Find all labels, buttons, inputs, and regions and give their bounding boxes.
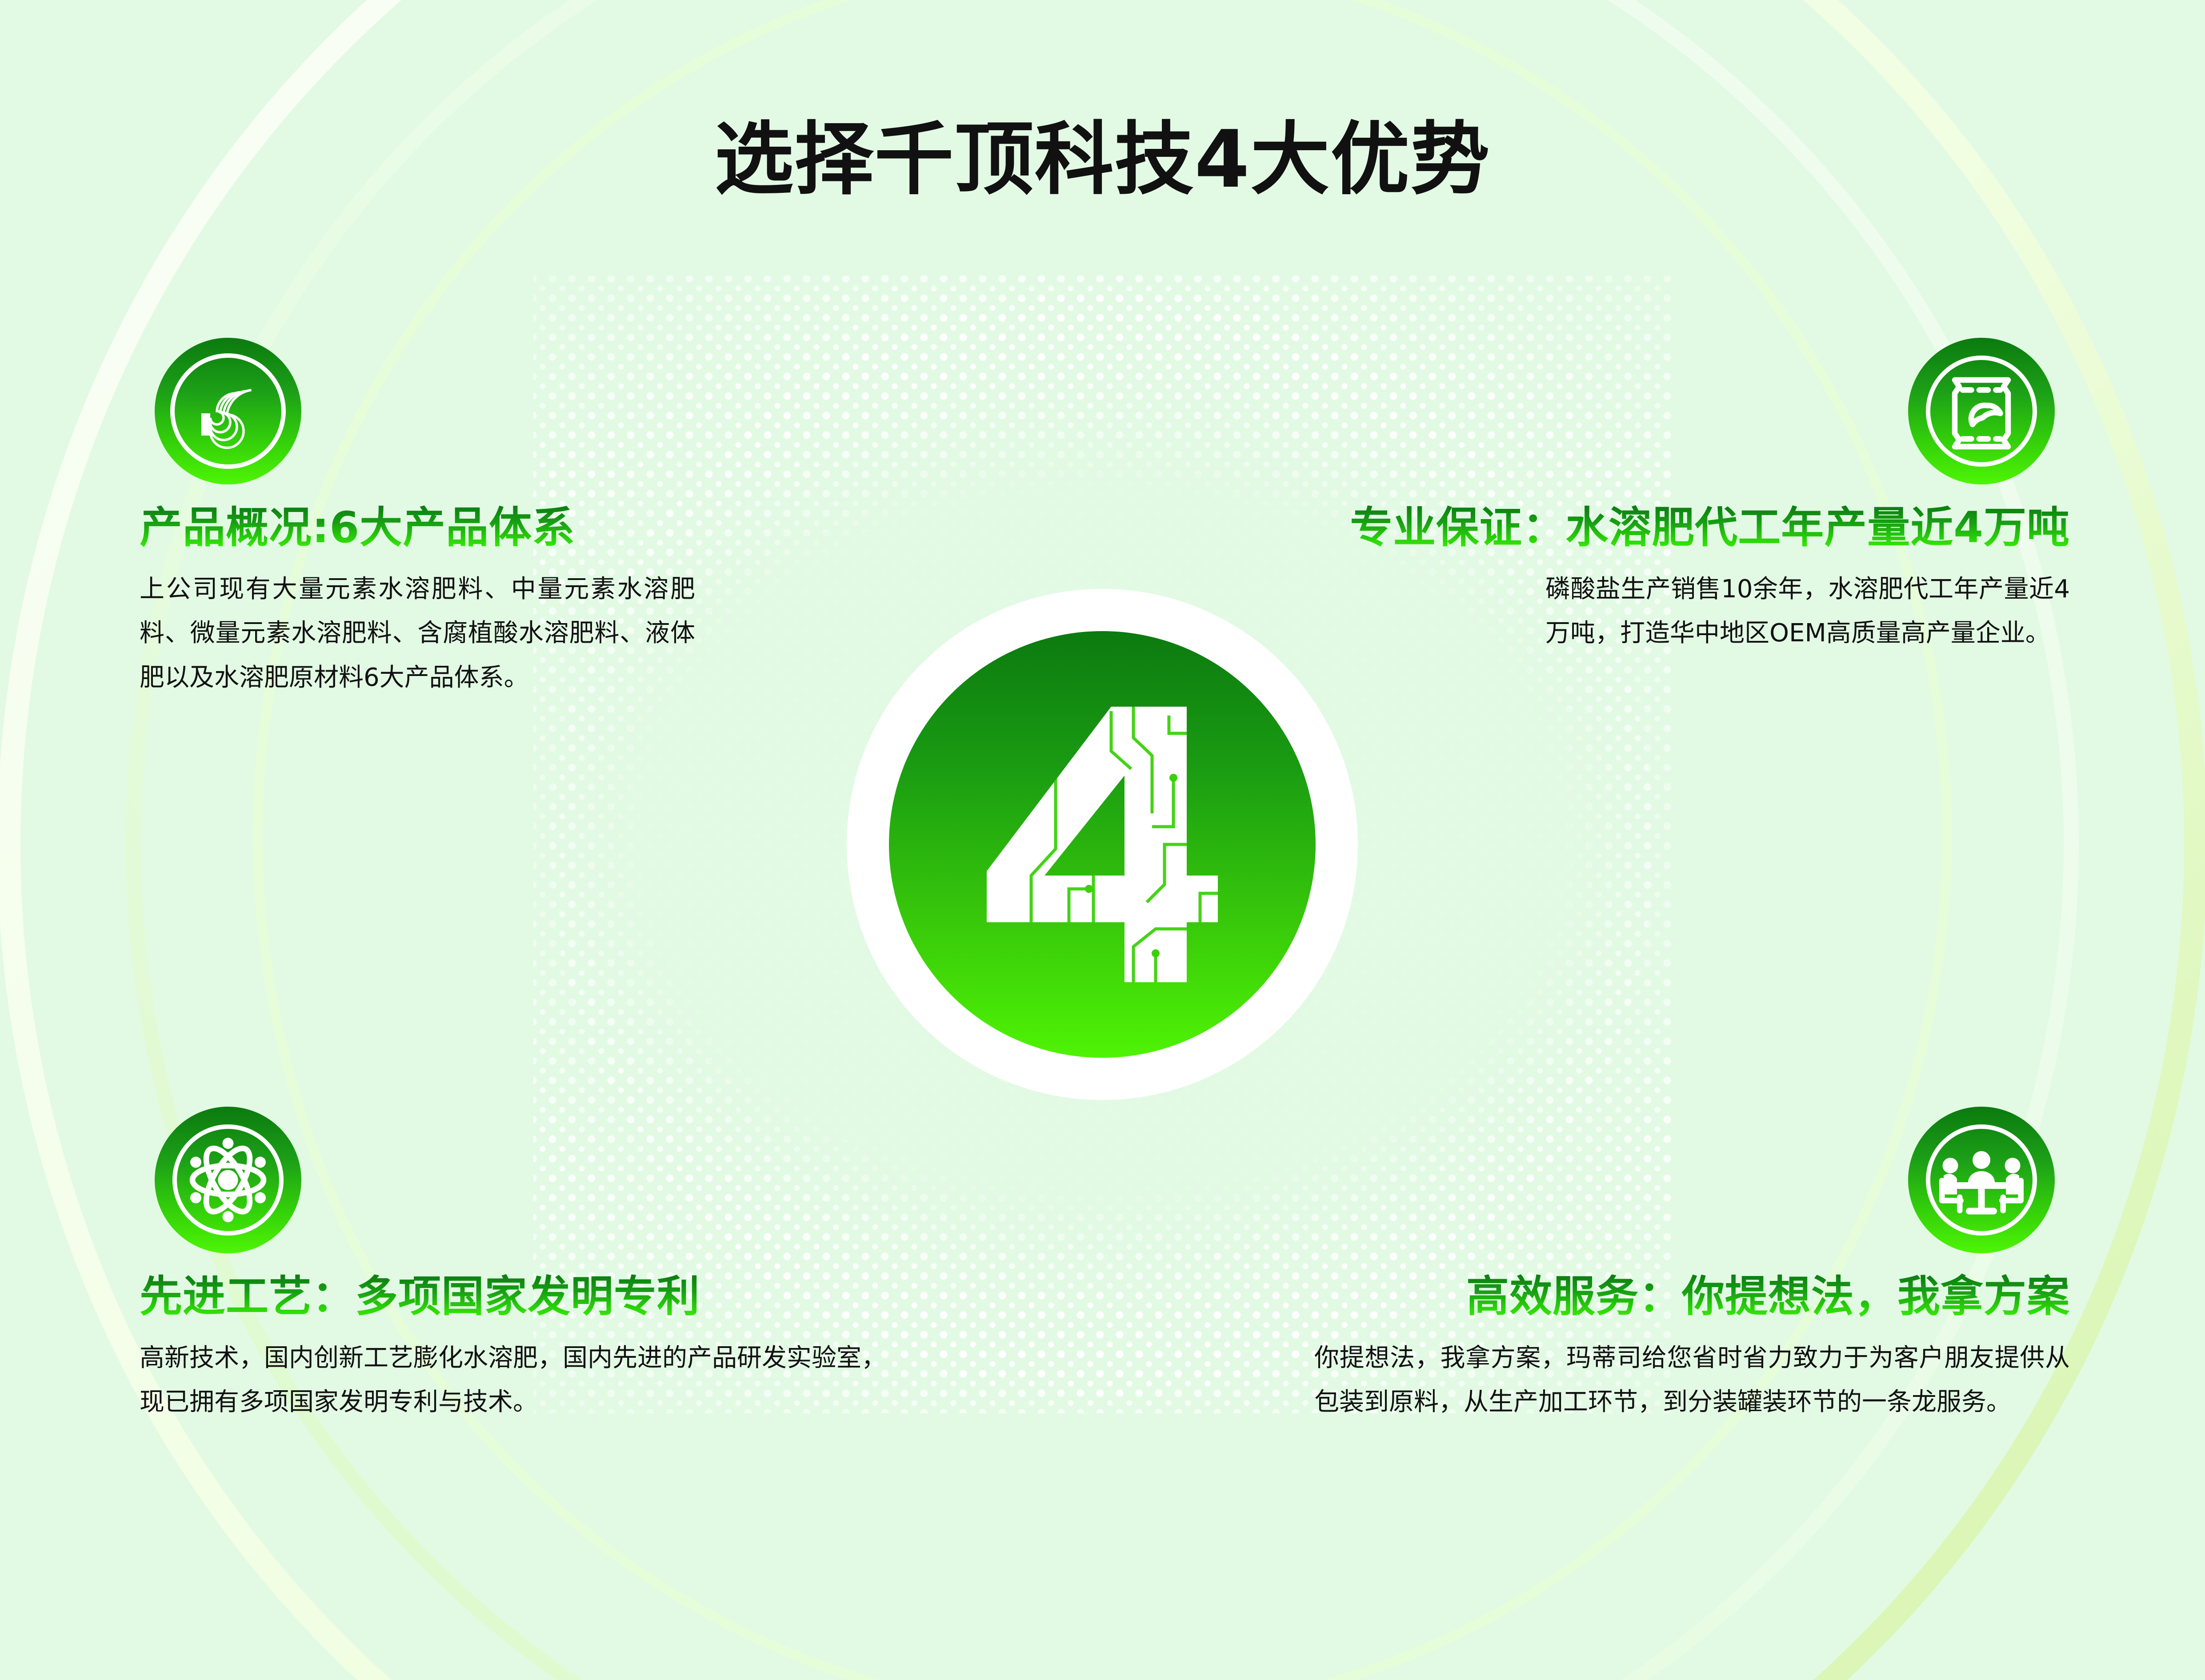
- advantage-body: 高新技术，国内创新工艺膨化水溶肥，国内先进的产品研发实验室，现已拥有多项国家发明…: [140, 1336, 886, 1424]
- advantage-heading: 高效服务：你提想法，我拿方案: [1285, 1273, 2070, 1321]
- atom-icon: [155, 1107, 301, 1253]
- number-4-tech-circuit-icon: [978, 698, 1227, 991]
- advantage-body: 你提想法，我拿方案，玛蒂司给您省时省力致力于为客户朋友提供从包装到原料，从生产加…: [1314, 1336, 2070, 1424]
- advantage-block-bottom-left: 先进工艺：多项国家发明专利 高新技术，国内创新工艺膨化水溶肥，国内先进的产品研发…: [133, 1107, 916, 1424]
- advantage-heading: 产品概况:6大产品体系: [140, 504, 724, 552]
- advantage-heading: 专业保证：水溶肥代工年产量近4万吨: [1165, 504, 2070, 552]
- meeting-table-people-icon: [1908, 1107, 2055, 1253]
- number-6-spiral-icon: [155, 338, 301, 484]
- center-green-disc: [889, 631, 1316, 1058]
- advantage-body: 磷酸盐生产销售10余年，水溶肥代工年产量近4万吨，打造华中地区OEM高质量高产量…: [1545, 567, 2070, 656]
- advantage-block-top-right: 专业保证：水溶肥代工年产量近4万吨 磷酸盐生产销售10余年，水溶肥代工年产量近4…: [1165, 338, 2076, 656]
- advantage-body: 上公司现有大量元素水溶肥料、中量元素水溶肥料、微量元素水溶肥料、含腐植酸水溶肥料…: [140, 567, 695, 700]
- advantage-block-top-left: 产品概况:6大产品体系 上公司现有大量元素水溶肥料、中量元素水溶肥料、微量元素水…: [133, 338, 724, 700]
- page-title: 选择千顶科技4大优势: [0, 96, 2205, 210]
- fertilizer-bag-icon: [1908, 338, 2055, 484]
- advantage-heading: 先进工艺：多项国家发明专利: [140, 1273, 916, 1321]
- advantage-block-bottom-right: 高效服务：你提想法，我拿方案 你提想法，我拿方案，玛蒂司给您省时省力致力于为客户…: [1285, 1107, 2076, 1424]
